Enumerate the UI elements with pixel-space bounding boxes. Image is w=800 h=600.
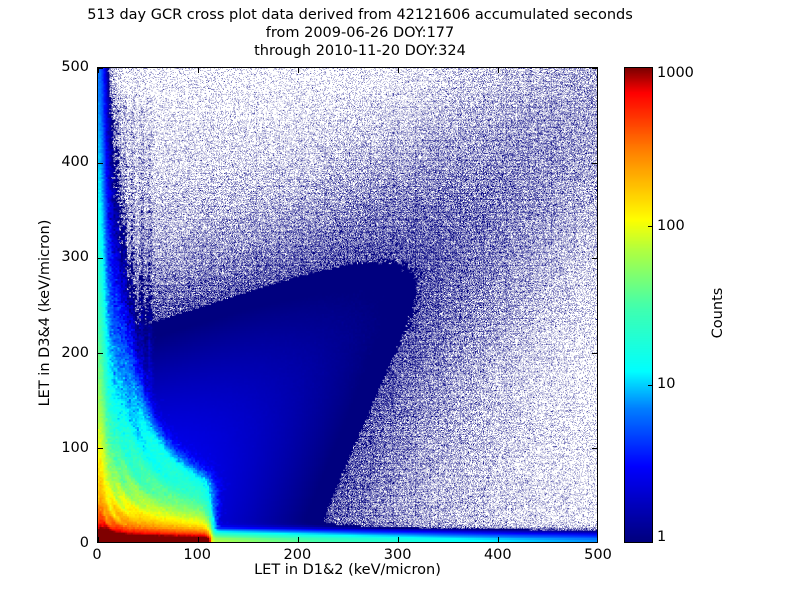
colorbar-tick-label: 1: [657, 529, 666, 545]
x-tick-label: 500: [584, 547, 612, 563]
x-tick-mark-top: [298, 68, 299, 73]
y-tick-mark: [98, 448, 103, 449]
y-tick-mark-right: [592, 163, 597, 164]
colorbar-gradient: [625, 68, 652, 542]
plot-axes: [97, 67, 598, 543]
colorbar-tick-mark: [648, 226, 652, 227]
figure-canvas: 513 day GCR cross plot data derived from…: [0, 0, 800, 600]
figure-title: 513 day GCR cross plot data derived from…: [0, 6, 720, 60]
y-tick-mark: [98, 163, 103, 164]
x-tick-label: 0: [92, 547, 101, 563]
colorbar-label: Counts: [710, 223, 726, 403]
x-axis-label: LET in D1&2 (keV/micron): [97, 562, 598, 578]
x-tick-label: 300: [384, 547, 412, 563]
x-tick-mark: [298, 537, 299, 542]
x-tick-mark: [97, 537, 98, 542]
x-tick-label: 400: [484, 547, 512, 563]
x-tick-mark-top: [398, 68, 399, 73]
x-tick-mark: [398, 537, 399, 542]
x-tick-label: 100: [183, 547, 211, 563]
title-line-1: 513 day GCR cross plot data derived from…: [0, 6, 720, 24]
y-tick-mark-right: [592, 353, 597, 354]
y-axis-label: LET in D3&4 (keV/micron): [37, 163, 53, 463]
colorbar-tick-mark: [648, 385, 652, 386]
colorbar-tick-label: 100: [657, 218, 685, 234]
y-tick-mark-right: [592, 67, 597, 68]
y-tick-mark: [98, 353, 103, 354]
x-tick-label: 200: [284, 547, 312, 563]
y-tick-mark-right: [592, 448, 597, 449]
x-tick-mark-top: [498, 68, 499, 73]
y-tick-mark: [98, 67, 103, 68]
y-tick-label: 500: [41, 59, 89, 75]
y-tick-mark: [98, 258, 103, 259]
x-tick-mark-top: [198, 68, 199, 73]
colorbar: [624, 67, 653, 543]
title-line-2: from 2009-06-26 DOY:177: [0, 24, 720, 42]
colorbar-tick-label: 10: [657, 376, 675, 392]
x-tick-mark: [498, 537, 499, 542]
density-scatter-plot: [98, 68, 597, 542]
colorbar-tick-label: 1000: [657, 65, 694, 81]
y-tick-label: 0: [41, 535, 89, 551]
y-tick-mark-right: [592, 258, 597, 259]
title-line-3: through 2010-11-20 DOY:324: [0, 42, 720, 60]
x-tick-mark-top: [97, 68, 98, 73]
x-tick-mark: [198, 537, 199, 542]
